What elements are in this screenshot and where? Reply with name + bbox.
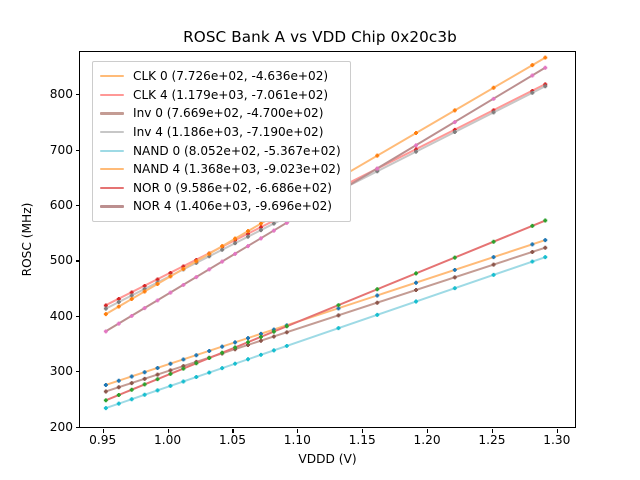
legend-color-swatch [100, 150, 124, 152]
x-tick-label: 1.25 [478, 433, 505, 447]
x-tick-label: 1.05 [219, 433, 246, 447]
chart-legend[interactable]: CLK 0 (7.726e+02, -4.636e+02)CLK 4 (1.17… [92, 61, 351, 222]
y-tick-label: 700 [50, 143, 73, 157]
y-tick-label: 400 [50, 309, 73, 323]
legend-color-swatch [100, 187, 124, 189]
legend-color-swatch [100, 94, 124, 96]
legend-item-label: Inv 0 (7.669e+02, -4.700e+02) [133, 106, 323, 120]
series-clk-0 [104, 238, 547, 387]
y-tick-mark [76, 94, 80, 95]
legend-item-inv-4[interactable]: Inv 4 (1.186e+03, -7.190e+02) [100, 123, 341, 142]
legend-item-inv-0[interactable]: Inv 0 (7.669e+02, -4.700e+02) [100, 104, 341, 123]
legend-item-label: CLK 0 (7.726e+02, -4.636e+02) [133, 69, 328, 83]
y-tick-mark [76, 316, 80, 317]
legend-item-label: NOR 4 (1.406e+03, -9.696e+02) [133, 199, 332, 213]
y-tick-label: 500 [50, 253, 73, 267]
legend-item-label: NOR 0 (9.586e+02, -6.686e+02) [133, 181, 332, 195]
matplotlib-figure: ROSC Bank A vs VDD Chip 0x20c3b ROSC (MH… [0, 0, 640, 480]
x-tick-label: 1.10 [284, 433, 311, 447]
legend-color-swatch [100, 168, 124, 170]
legend-item-label: CLK 4 (1.179e+03, -7.061e+02) [133, 88, 328, 102]
legend-item-nor-4[interactable]: NOR 4 (1.406e+03, -9.696e+02) [100, 197, 341, 216]
y-axis-label: ROSC (MHz) [18, 51, 36, 428]
legend-item-clk-0[interactable]: CLK 0 (7.726e+02, -4.636e+02) [100, 67, 341, 86]
chart-title: ROSC Bank A vs VDD Chip 0x20c3b [0, 28, 640, 46]
y-tick-mark [76, 427, 80, 428]
x-tick-label: 1.00 [154, 433, 181, 447]
legend-color-swatch [100, 112, 124, 114]
legend-color-swatch [100, 75, 124, 77]
legend-item-label: Inv 4 (1.186e+03, -7.190e+02) [133, 125, 323, 139]
legend-item-nor-0[interactable]: NOR 0 (9.586e+02, -6.686e+02) [100, 179, 341, 198]
y-tick-label: 300 [50, 364, 73, 378]
series-nand-0 [104, 255, 547, 410]
x-tick-label: 1.20 [414, 433, 441, 447]
legend-item-nand-4[interactable]: NAND 4 (1.368e+03, -9.023e+02) [100, 160, 341, 179]
x-axis-label: VDDD (V) [79, 452, 576, 466]
y-tick-mark [76, 205, 80, 206]
legend-item-clk-4[interactable]: CLK 4 (1.179e+03, -7.061e+02) [100, 86, 341, 105]
x-tick-label: 0.95 [89, 433, 116, 447]
series-nor-0 [104, 219, 547, 403]
legend-color-swatch [100, 205, 124, 207]
y-tick-label: 600 [50, 198, 73, 212]
legend-item-label: NAND 0 (8.052e+02, -5.367e+02) [133, 144, 341, 158]
x-tick-label: 1.15 [349, 433, 376, 447]
y-tick-label: 200 [50, 420, 73, 434]
y-tick-mark [76, 150, 80, 151]
data-point [543, 246, 547, 250]
legend-color-swatch [100, 131, 124, 133]
x-tick-label: 1.30 [543, 433, 570, 447]
series-inv-0 [104, 246, 547, 394]
y-tick-mark [76, 371, 80, 372]
y-tick-mark [76, 260, 80, 261]
legend-item-nand-0[interactable]: NAND 0 (8.052e+02, -5.367e+02) [100, 141, 341, 160]
legend-item-label: NAND 4 (1.368e+03, -9.023e+02) [133, 162, 341, 176]
y-tick-label: 800 [50, 87, 73, 101]
